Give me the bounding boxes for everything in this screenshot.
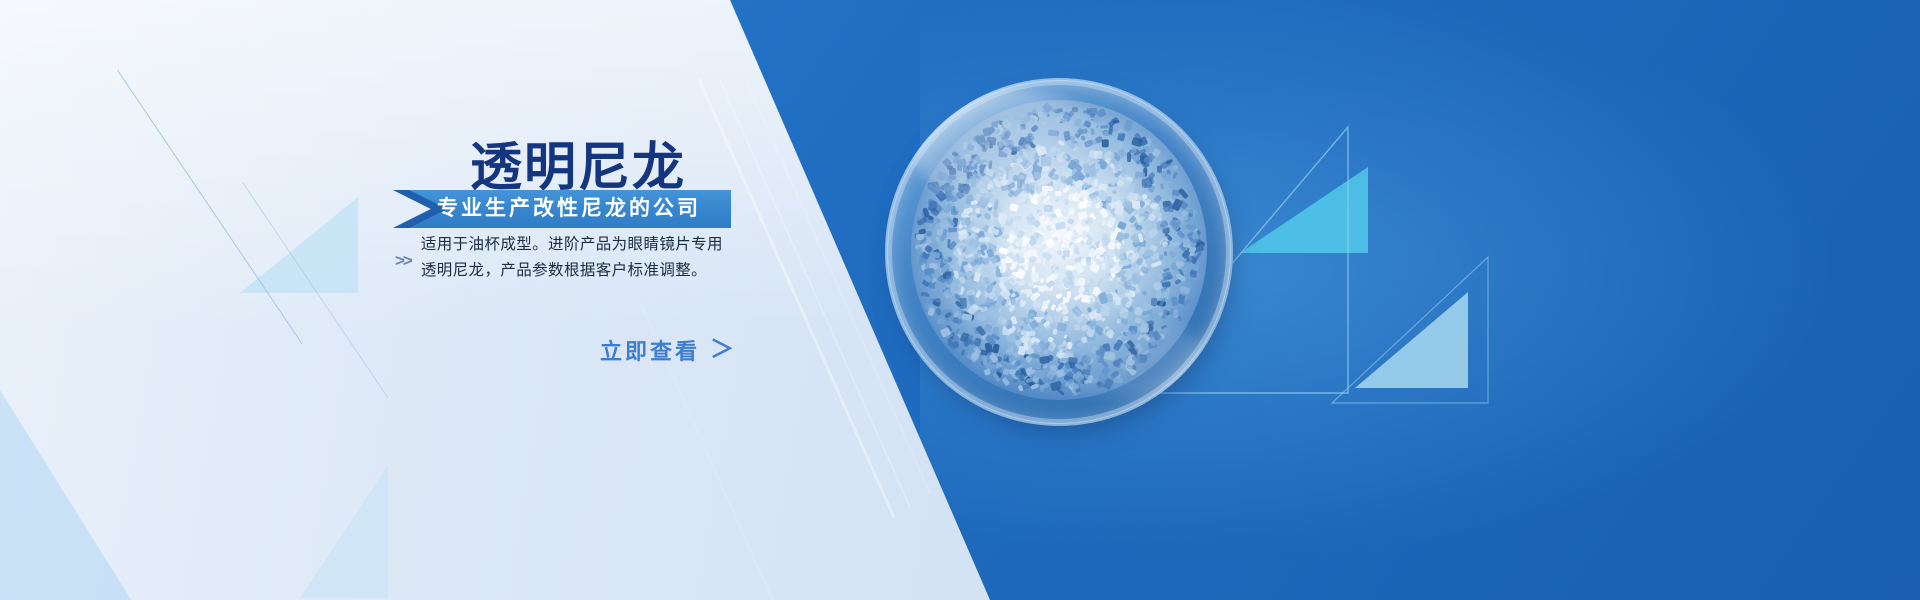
banner-content: 透明尼龙 专业生产改性尼龙的公司 >> 适用于油杯成型。进阶产品为眼睛镜片专用 … xyxy=(0,0,1020,600)
description-text: 适用于油杯成型。进阶产品为眼睛镜片专用 透明尼龙，产品参数根据客户标准调整。 xyxy=(421,232,723,284)
description-block: >> 适用于油杯成型。进阶产品为眼睛镜片专用 透明尼龙，产品参数根据客户标准调整… xyxy=(395,232,755,284)
view-now-label: 立即查看 xyxy=(600,334,700,366)
arrow-right-icon: ＞ xyxy=(710,338,734,362)
description-line-1: 适用于油杯成型。进阶产品为眼睛镜片专用 xyxy=(421,232,723,258)
view-now-button[interactable]: 立即查看 ＞ xyxy=(600,334,734,366)
page-title: 透明尼龙 xyxy=(470,125,686,200)
decorative-triangle-outline-2 xyxy=(1330,255,1490,405)
description-line-2: 透明尼龙，产品参数根据客户标准调整。 xyxy=(421,258,723,284)
double-chevron-icon: >> xyxy=(395,248,411,269)
product-banner: 透明尼龙 专业生产改性尼龙的公司 >> 适用于油杯成型。进阶产品为眼睛镜片专用 … xyxy=(0,0,1920,600)
subtitle-ribbon: 专业生产改性尼龙的公司 xyxy=(393,190,731,228)
ribbon-label: 专业生产改性尼龙的公司 xyxy=(437,190,701,228)
